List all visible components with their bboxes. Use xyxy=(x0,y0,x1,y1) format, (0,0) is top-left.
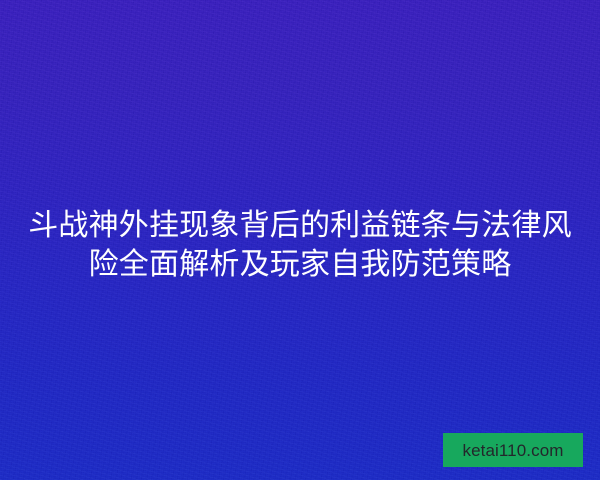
page-title: 斗战神外挂现象背后的利益链条与法律风险全面解析及玩家自我防范策略 xyxy=(0,206,600,284)
page-title-line-2: 险全面解析及玩家自我防范策略 xyxy=(89,248,512,281)
watermark-label: ketai110.com xyxy=(462,442,563,459)
page-title-line-1: 斗战神外挂现象背后的利益链条与法律风 xyxy=(28,209,572,242)
cover-canvas: 斗战神外挂现象背后的利益链条与法律风险全面解析及玩家自我防范策略 ketai11… xyxy=(0,0,600,480)
watermark-badge[interactable]: ketai110.com xyxy=(443,433,583,467)
